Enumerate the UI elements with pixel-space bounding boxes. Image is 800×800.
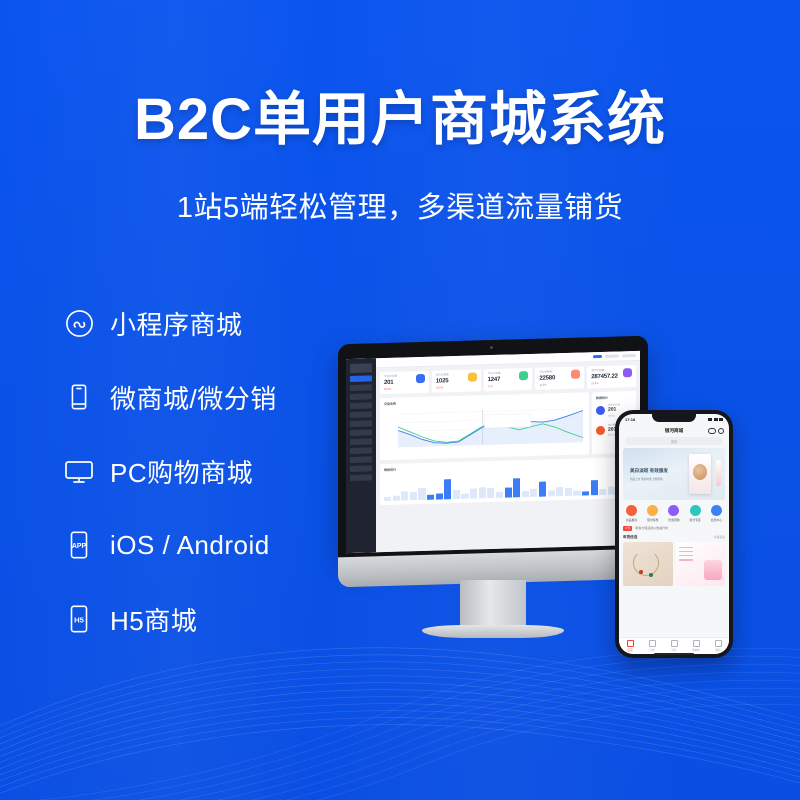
topbar-notification-icon[interactable] (593, 355, 602, 358)
tab-label: 我的 (715, 648, 720, 652)
home-icon (627, 640, 634, 647)
necklace-image (633, 550, 659, 576)
section-header: 年货优选 查看更多 (623, 535, 725, 540)
points-icon (690, 505, 701, 516)
announcement-text: 新春大促活动火热进行中 (635, 526, 668, 530)
pending-shipment-icon (596, 406, 605, 415)
status-time: 17:18 (625, 417, 635, 422)
wifi-icon (714, 418, 718, 421)
feature-item-app[interactable]: APP iOS / Android (62, 522, 362, 568)
category-item[interactable]: 优惠团购 (668, 505, 679, 522)
sidebar-item-system[interactable] (350, 474, 372, 481)
category-label: 积分专区 (690, 518, 701, 522)
stat-delta: 11.2% (539, 383, 555, 387)
trend-line-chart (384, 404, 585, 452)
panel-row: 交易走势 (380, 391, 636, 460)
sales-icon (571, 370, 580, 379)
dashboard-content: 今日访问量 201 18.5% 会员总数量 1025 (376, 361, 640, 552)
monitor-camera (490, 346, 493, 349)
product-feature-lines (679, 547, 693, 564)
stat-card[interactable]: 会员总数量 1025 13.6% (432, 369, 481, 393)
sidebar-item-apps[interactable] (350, 438, 372, 445)
orders-icon (519, 371, 528, 380)
message-icon (671, 640, 678, 647)
mobile-phone-mockup: 17:18 银河商城 搜索 美白淡斑 有效服发 新品上市 限时特 (615, 410, 733, 658)
category-shortcut-row: 新品推荐 限时特惠 优惠团购 积分专区 会员中心 (619, 500, 729, 525)
category-item[interactable]: 新品推荐 (626, 505, 637, 522)
members-icon (468, 372, 477, 381)
sidebar-item-marketing[interactable] (350, 411, 372, 418)
feature-label: 小程序商城 (110, 305, 243, 342)
phone-screen: 17:18 银河商城 搜索 美白淡斑 有效服发 新品上市 限时特 (619, 414, 729, 654)
phone-nav-bar: 银河商城 (619, 425, 729, 436)
flash-sale-icon (647, 505, 658, 516)
banner-product-tube (716, 460, 721, 486)
group-buy-icon (668, 505, 679, 516)
stat-value: 201 (384, 378, 397, 387)
stat-delta: 18.5% (384, 387, 397, 391)
category-label: 限时特惠 (647, 518, 658, 522)
monitor-bezel: 今日访问量 201 18.5% 会员总数量 1025 (338, 336, 648, 560)
announcement-tag: 公告 (623, 526, 632, 531)
announcement-bar[interactable]: 公告 新春大促活动火热进行中 (623, 525, 725, 532)
new-arrival-icon (626, 505, 637, 516)
topbar-account[interactable] (605, 354, 619, 357)
sidebar-item-finance[interactable] (350, 429, 372, 436)
total-icon (623, 368, 632, 377)
category-item[interactable]: 积分专区 (690, 505, 701, 522)
mobile-phone-icon (62, 380, 96, 414)
phone-tab-bar: 首页 分类 消息 购物车 我的 (619, 637, 729, 654)
sidebar-item-decorate[interactable] (350, 447, 372, 454)
stat-delta: 13.9% (591, 381, 618, 385)
banner-product-image (689, 454, 711, 494)
stat-delta: 17% (488, 384, 501, 388)
status-icons (708, 418, 723, 421)
sidebar-item-goods[interactable] (350, 384, 372, 391)
category-label: 会员中心 (711, 518, 722, 522)
sidebar-item-orders[interactable] (350, 393, 372, 400)
stat-card-row: 今日访问量 201 18.5% 会员总数量 1025 (380, 365, 636, 394)
panel-title: 数据统计 (596, 395, 632, 400)
monitor-screen: 今日访问量 201 18.5% 会员总数量 1025 (346, 351, 640, 553)
search-input[interactable]: 搜索 (625, 437, 723, 445)
desktop-monitor-mockup: 今日访问量 201 18.5% 会员总数量 1025 (338, 340, 648, 580)
feature-label: PC购物商城 (110, 453, 253, 490)
sidebar-item-home[interactable] (350, 375, 372, 382)
stat-value: 1025 (436, 377, 449, 386)
stat-value: 287457.22 (591, 372, 618, 382)
phone-notch (652, 414, 696, 422)
category-item[interactable]: 会员中心 (711, 505, 722, 522)
tab-category[interactable]: 分类 (641, 640, 663, 652)
feature-item-miniprogram[interactable]: 小程序商城 (62, 300, 362, 346)
tab-cart[interactable]: 购物车 (685, 640, 707, 652)
tab-label: 消息 (671, 648, 676, 652)
category-item[interactable]: 限时特惠 (647, 505, 658, 522)
device-mockup-group: 今日访问量 201 18.5% 会员总数量 1025 (320, 330, 790, 670)
phone-home-indicator (654, 653, 694, 655)
sales-bar-chart (384, 468, 632, 501)
banner-headline: 美白淡斑 有效服发 (630, 468, 668, 474)
pending-payment-icon (596, 425, 605, 434)
feature-item-weimall[interactable]: 微商城/微分销 (62, 374, 362, 420)
hero-section: B2C单用户商城系统 1站5端轻松管理，多渠道流量铺货 (0, 0, 800, 226)
stat-card[interactable]: 累计交易额 287457.22 13.9% (587, 365, 636, 389)
phone-nav-capsule[interactable] (708, 428, 724, 434)
feature-label: H5商城 (110, 601, 197, 638)
user-icon (715, 640, 722, 647)
product-grid (623, 542, 725, 586)
sidebar-item-distribution[interactable] (350, 420, 372, 427)
category-label: 优惠团购 (668, 518, 679, 522)
dashboard-sidebar (346, 358, 376, 553)
product-card[interactable] (676, 542, 726, 586)
feature-label: iOS / Android (110, 530, 270, 561)
stat-card[interactable]: 今日订单量 1247 17% (484, 368, 533, 392)
phone-nav-title: 银河商城 (665, 428, 683, 434)
sidebar-item-members[interactable] (350, 402, 372, 409)
promo-banner[interactable]: 美白淡斑 有效服发 新品上市 限时特惠 立即抢购 (623, 448, 725, 500)
tab-label: 购物车 (692, 648, 700, 652)
feature-list: 小程序商城 微商城/微分销 PC购物商城 APP (62, 300, 362, 670)
monitor-stand-foot (422, 625, 564, 638)
product-card[interactable] (623, 542, 673, 586)
h5-phone-icon: H5 (62, 602, 96, 636)
dashboard-main: 今日访问量 201 18.5% 会员总数量 1025 (376, 351, 640, 552)
desktop-monitor-icon (62, 454, 96, 488)
visits-icon (416, 374, 425, 383)
more-dots-icon[interactable] (708, 428, 716, 434)
tab-label: 首页 (627, 648, 632, 652)
member-center-icon (711, 505, 722, 516)
sales-rank-panel: 销售排行 (380, 457, 636, 505)
wechat-miniprogram-icon (62, 306, 96, 340)
svg-text:H5: H5 (74, 615, 85, 624)
topbar-logout[interactable] (622, 354, 636, 357)
sidebar-logo (350, 363, 372, 373)
feature-label: 微商城/微分销 (110, 379, 277, 416)
banner-subline: 新品上市 限时特惠 立即抢购 (630, 477, 663, 481)
category-label: 新品推荐 (626, 518, 637, 522)
admin-dashboard: 今日访问量 201 18.5% 会员总数量 1025 (346, 351, 640, 553)
sidebar-item-settings[interactable] (350, 465, 372, 472)
sidebar-item-stats[interactable] (350, 456, 372, 463)
monitor-stand-neck (460, 580, 526, 628)
page-title: B2C单用户商城系统 (0, 88, 800, 153)
svg-text:APP: APP (72, 543, 87, 550)
cream-jar-image (704, 560, 722, 580)
battery-icon (719, 418, 723, 421)
stat-delta: 13.6% (436, 386, 449, 390)
feature-item-pc[interactable]: PC购物商城 (62, 448, 362, 494)
section-more-link[interactable]: 查看更多 (714, 535, 725, 540)
grid-icon (649, 640, 656, 647)
signal-icon (708, 418, 712, 421)
tab-message[interactable]: 消息 (663, 640, 685, 652)
cart-icon (693, 640, 700, 647)
stat-card[interactable]: 今日销售额 22580 11.2% (535, 366, 584, 390)
stat-value: 22580 (539, 374, 555, 383)
stat-card[interactable]: 今日访问量 201 18.5% (380, 371, 429, 395)
app-phone-icon: APP (62, 528, 96, 562)
stat-value: 1247 (488, 375, 501, 384)
search-placeholder: 搜索 (671, 439, 678, 444)
trend-chart-panel: 交易走势 (380, 393, 589, 461)
section-title: 年货优选 (623, 535, 637, 540)
tab-label: 分类 (649, 648, 654, 652)
feature-item-h5[interactable]: H5 H5商城 (62, 596, 362, 642)
close-icon[interactable] (718, 428, 724, 434)
page-subtitle: 1站5端轻松管理，多渠道流量铺货 (0, 184, 800, 226)
